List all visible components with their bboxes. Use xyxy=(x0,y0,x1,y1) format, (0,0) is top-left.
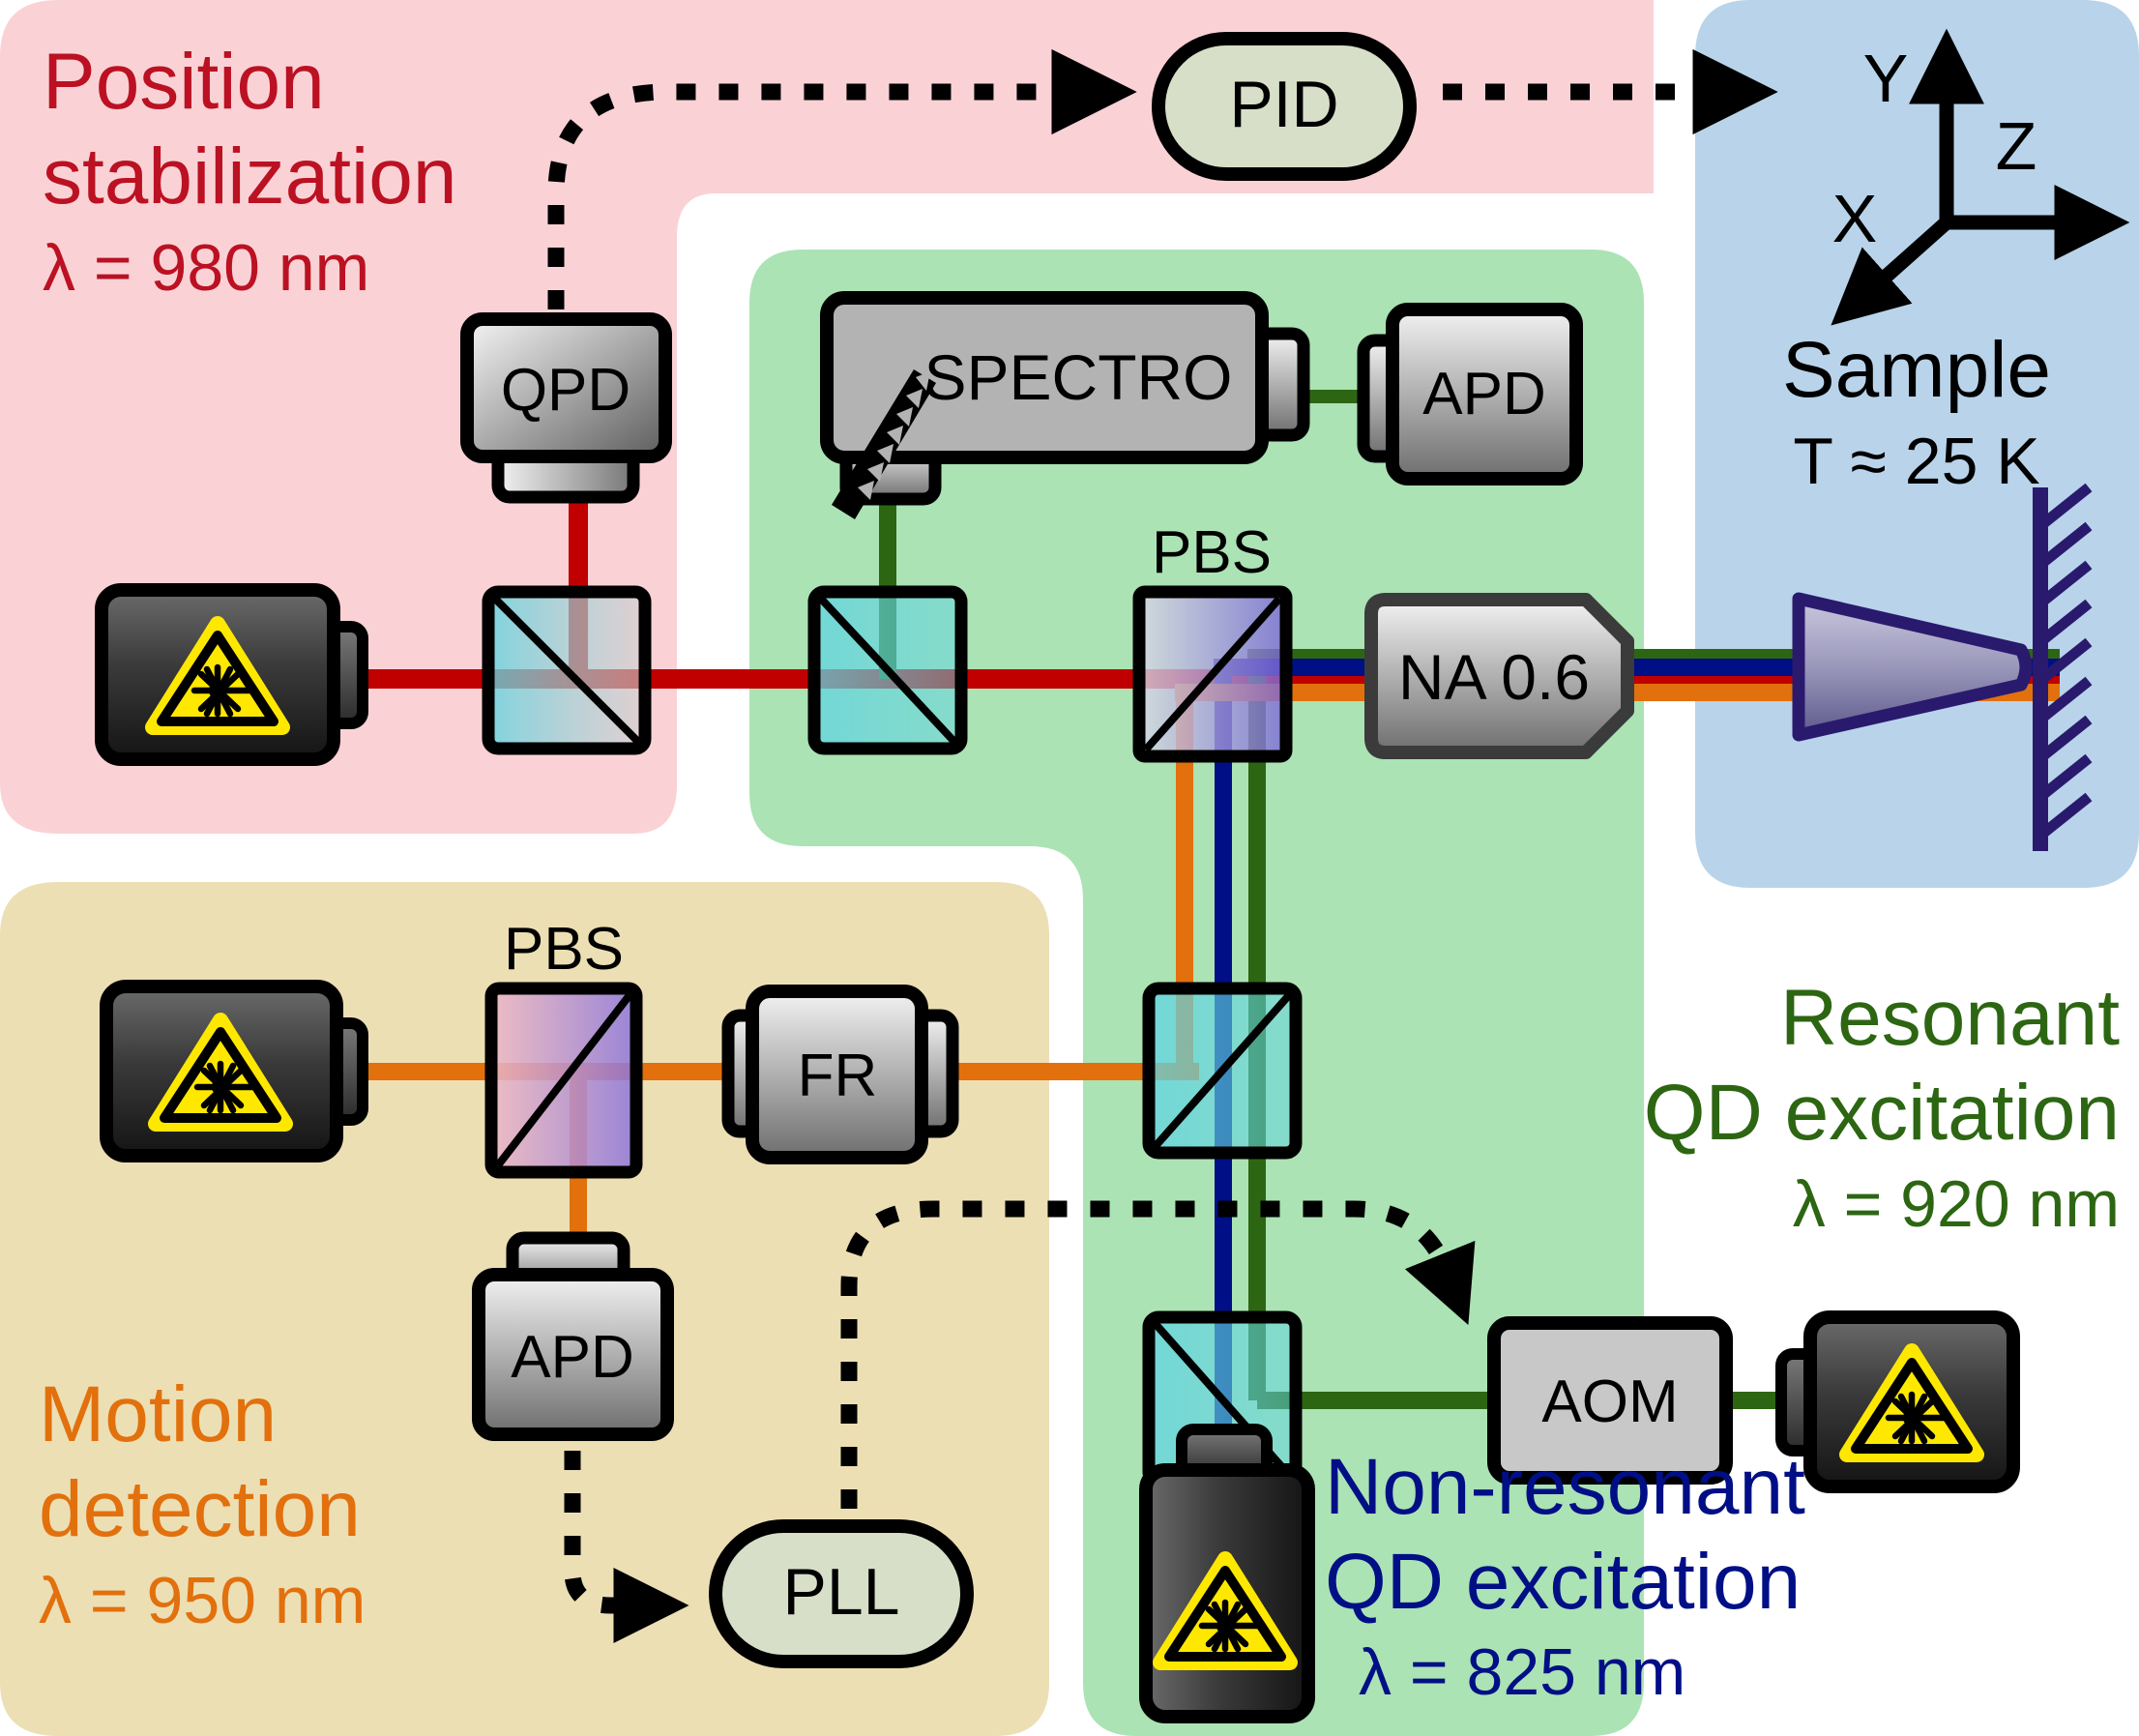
resonant-wavelength: λ = 920 nm xyxy=(1793,1167,2120,1241)
label-nonresonant: Non-resonant QD excitation λ = 825 nm xyxy=(1325,1443,1805,1709)
qpd-label: QPD xyxy=(501,357,630,424)
pbs-motion-label: PBS xyxy=(504,916,624,983)
resonant-line1: Resonant xyxy=(1780,974,2120,1062)
objective-lens[interactable]: NA 0.6 xyxy=(1371,600,1627,752)
fr-label: FR xyxy=(798,1043,878,1109)
polarizing-beamsplitter-main[interactable] xyxy=(1139,592,1286,756)
axis-z-label: Z xyxy=(1996,108,2037,184)
beamsplitter-spectrometer[interactable] xyxy=(814,592,961,749)
pid-label: PID xyxy=(1229,68,1338,141)
spectro-label: SPECTRO xyxy=(923,341,1232,413)
laser-source-920[interactable] xyxy=(1781,1317,2013,1486)
laser-source-825[interactable] xyxy=(1146,1429,1308,1717)
aom-label: AOM xyxy=(1541,1368,1678,1435)
objective-label: NA 0.6 xyxy=(1398,641,1590,713)
nonresonant-wavelength: λ = 825 nm xyxy=(1359,1635,1685,1709)
apd-motion-label: APD xyxy=(511,1324,633,1391)
sample-line1: Sample xyxy=(1782,326,2051,414)
beamsplitter-980-pickoff[interactable] xyxy=(488,592,645,749)
motion-wavelength: λ = 950 nm xyxy=(39,1564,366,1637)
pll-label: PLL xyxy=(783,1555,900,1629)
resonant-line2: QD excitation xyxy=(1644,1069,2120,1157)
position-wavelength: λ = 980 nm xyxy=(43,231,369,305)
position-line2: stabilization xyxy=(43,132,456,221)
axis-x-label: X xyxy=(1832,181,1878,256)
detector-apd-spectrometer[interactable]: APD xyxy=(1363,309,1576,479)
motion-line1: Motion xyxy=(39,1370,277,1458)
laser-source-950[interactable] xyxy=(106,986,363,1156)
detector-qpd[interactable]: QPD xyxy=(467,319,665,497)
label-sample: Sample T ≈ 25 K xyxy=(1782,326,2051,498)
nonresonant-line1: Non-resonant xyxy=(1325,1443,1805,1531)
laser-source-980[interactable] xyxy=(102,590,363,759)
sample-line2: T ≈ 25 K xyxy=(1793,425,2039,498)
pbs-main-label: PBS xyxy=(1152,519,1272,586)
motion-line2: detection xyxy=(39,1465,361,1553)
faraday-rotator[interactable]: FR xyxy=(728,991,952,1158)
beamsplitter-motion-injection[interactable] xyxy=(1149,988,1296,1153)
polarizing-beamsplitter-motion[interactable] xyxy=(491,988,636,1172)
controller-pll[interactable]: PLL xyxy=(716,1526,967,1662)
nonresonant-line2: QD excitation xyxy=(1325,1538,1801,1626)
axis-y-label: Y xyxy=(1863,41,1909,116)
controller-pid[interactable]: PID xyxy=(1158,39,1410,174)
apd-spectro-label: APD xyxy=(1422,361,1545,427)
label-resonant: Resonant QD excitation λ = 920 nm xyxy=(1644,974,2120,1241)
position-line1: Position xyxy=(43,38,325,126)
figure-canvas: PBS PBS xyxy=(0,0,2139,1736)
